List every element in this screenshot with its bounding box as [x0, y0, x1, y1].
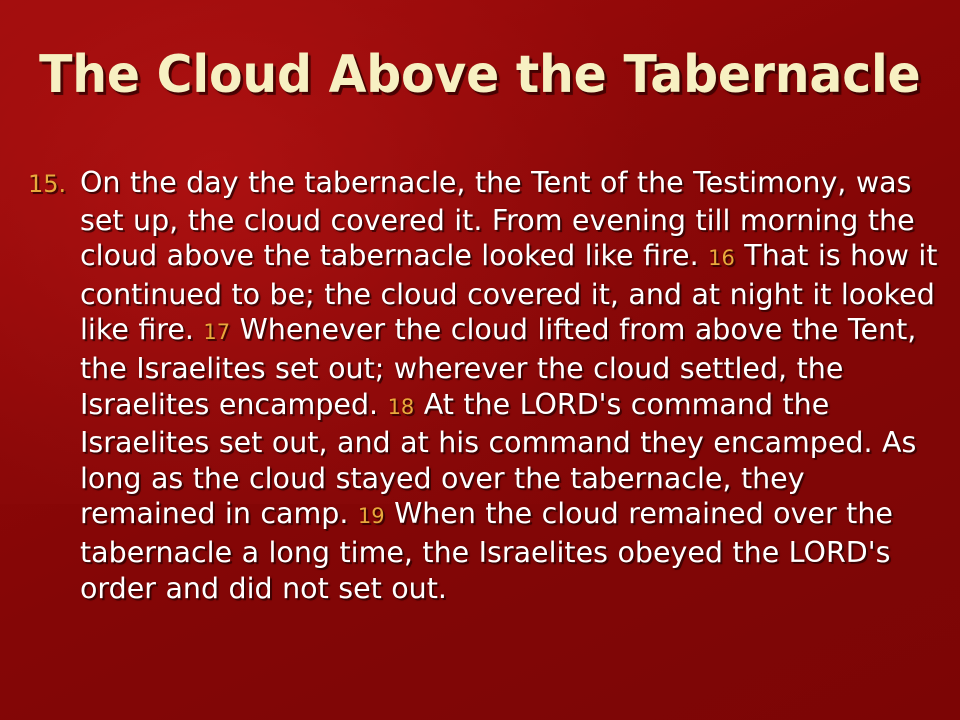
scripture-paragraph: 15.On the day the tabernacle, the Tent o…	[28, 165, 940, 606]
verse-lead-marker: 15.	[28, 167, 80, 203]
page-title: The Cloud Above the Tabernacle	[39, 48, 920, 103]
slide-content: The Cloud Above the Tabernacle 15.On the…	[0, 0, 960, 720]
verse-number: 17	[203, 320, 230, 344]
verse-number: 19	[358, 504, 385, 528]
presentation-slide: The Cloud Above the Tabernacle 15.On the…	[0, 0, 960, 720]
verse-number: 16	[708, 246, 735, 270]
slide-title-container: The Cloud Above the Tabernacle	[0, 48, 960, 103]
slide-body-container: 15.On the day the tabernacle, the Tent o…	[28, 165, 940, 606]
verse-runs: On the day the tabernacle, the Tent of t…	[80, 166, 937, 605]
verse-number: 18	[388, 395, 415, 419]
